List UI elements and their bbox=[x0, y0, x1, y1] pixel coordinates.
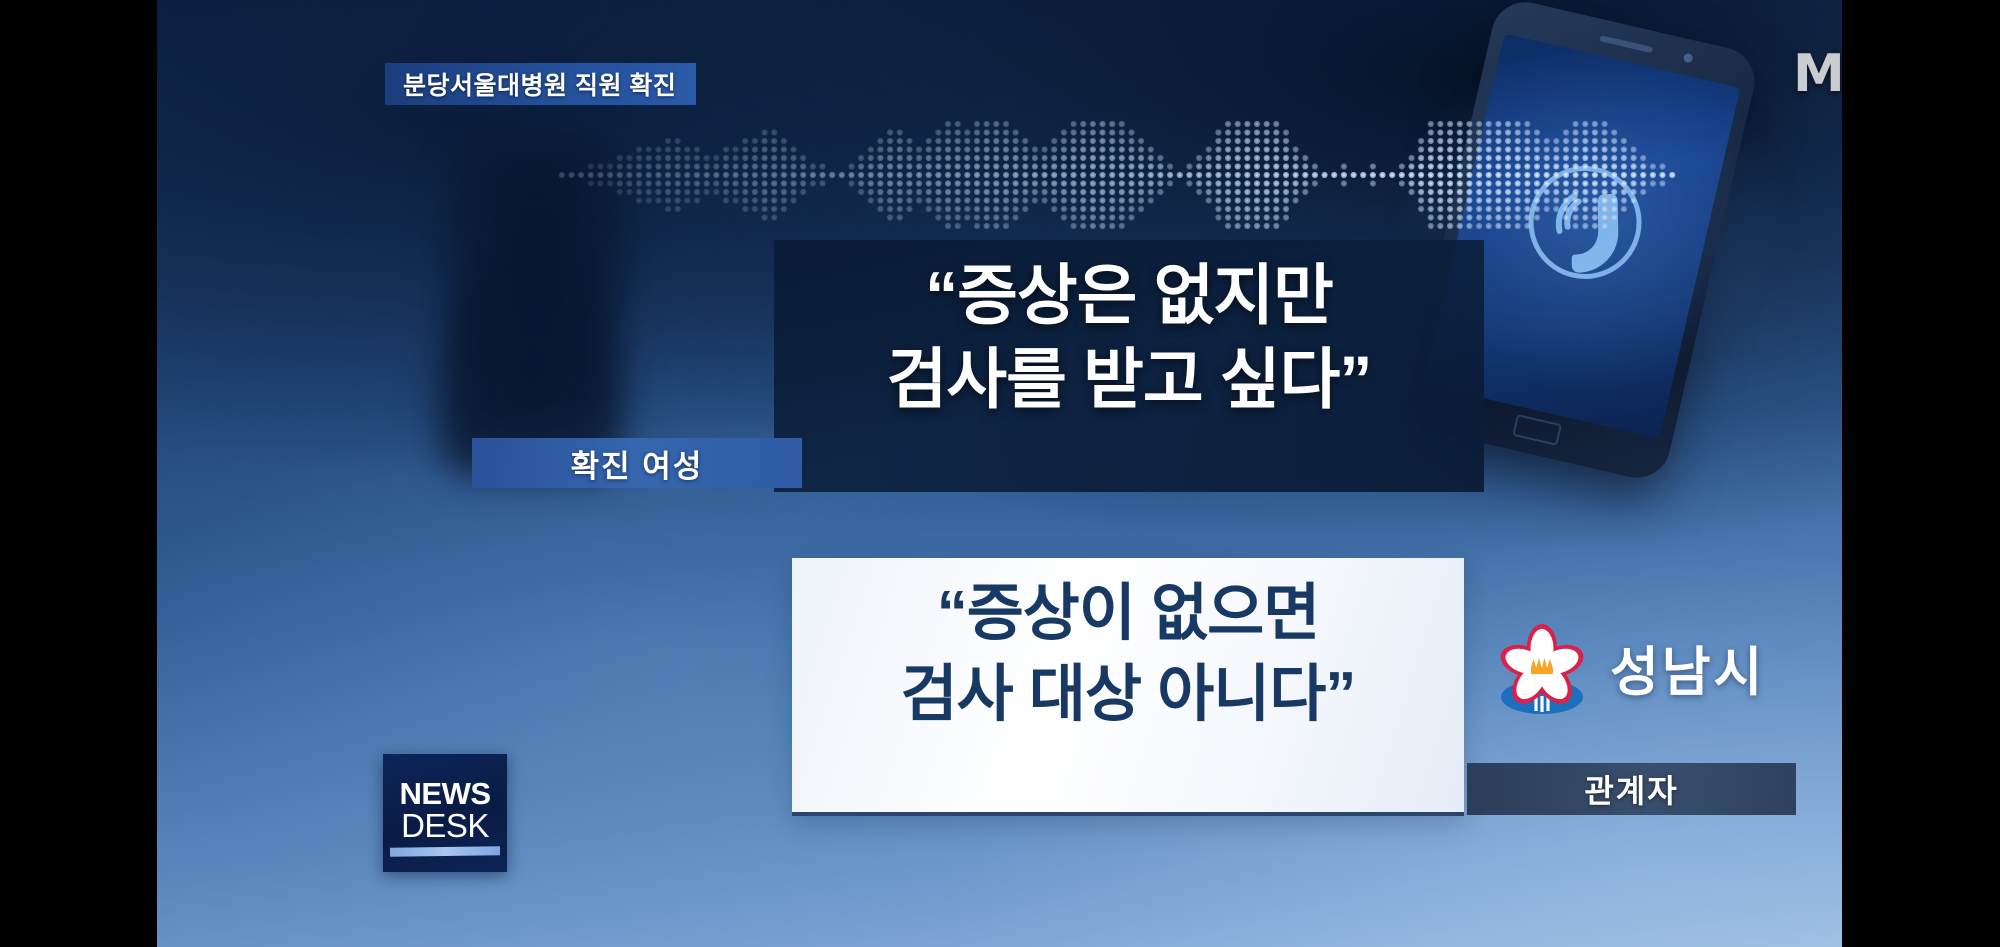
mbc-logo: MBC bbox=[1793, 48, 1842, 100]
phone-call-icon bbox=[1513, 150, 1657, 294]
newsdesk-logo-line1: NEWS bbox=[383, 778, 507, 809]
speaker-label-confirmed-woman: 확진 여성 bbox=[472, 438, 802, 488]
phone-earpiece bbox=[1599, 35, 1653, 53]
phone-home-button bbox=[1512, 414, 1562, 446]
quote2-line-2: 검사 대상 아니다” bbox=[792, 655, 1464, 736]
headline-banner: 분당서울대병원 직원 확진 bbox=[385, 63, 696, 105]
headline-text: 분당서울대병원 직원 확진 bbox=[403, 66, 676, 102]
broadcast-frame: 분당서울대병원 직원 확진 MBC “증상은 없지만 검사를 받고 싶다” 확진… bbox=[0, 0, 2000, 947]
speaker-label-city-official-text: 관계자 bbox=[1584, 766, 1678, 812]
newsdesk-logo: NEWS DESK bbox=[383, 754, 507, 872]
seongnam-city-logo: 성남시 bbox=[1490, 620, 1790, 725]
quote1-line-2: 검사를 받고 싶다” bbox=[774, 337, 1484, 421]
seongnam-flower-emblem-icon bbox=[1490, 623, 1594, 723]
speaker-label-confirmed-woman-text: 확진 여성 bbox=[571, 441, 704, 486]
quote-city-official-text: “증상이 없으면 검사 대상 아니다” bbox=[792, 574, 1464, 735]
quote1-line-1: “증상은 없지만 bbox=[774, 253, 1484, 337]
video-canvas: 분당서울대병원 직원 확진 MBC “증상은 없지만 검사를 받고 싶다” 확진… bbox=[157, 0, 1842, 947]
quote2-line-1: “증상이 없으면 bbox=[792, 574, 1464, 655]
newsdesk-accent-bar bbox=[390, 846, 500, 857]
quote-confirmed-woman-text: “증상은 없지만 검사를 받고 싶다” bbox=[774, 253, 1484, 422]
anonymous-silhouette-icon bbox=[412, 140, 652, 470]
mbc-logo-text: MBC bbox=[1793, 48, 1842, 100]
letterbox-right bbox=[1842, 0, 2000, 947]
speaker-label-city-official: 관계자 bbox=[1467, 763, 1796, 815]
seongnam-city-name: 성남시 bbox=[1610, 646, 1765, 699]
letterbox-left bbox=[0, 0, 157, 947]
newsdesk-logo-line2: DESK bbox=[383, 809, 507, 842]
phone-camera-icon bbox=[1683, 53, 1694, 64]
